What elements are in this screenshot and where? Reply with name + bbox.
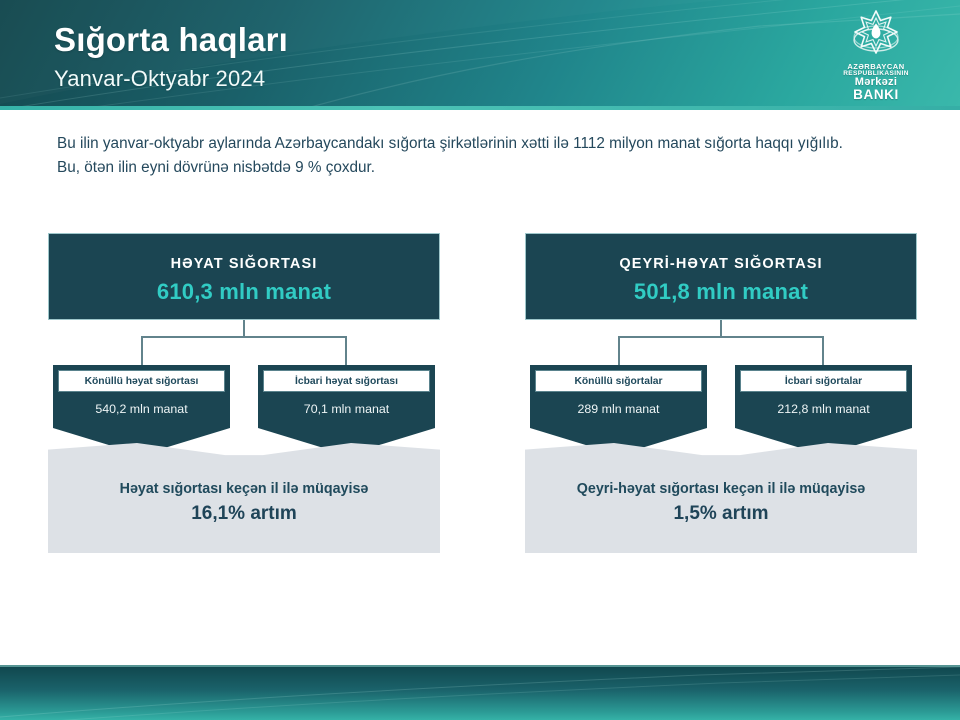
branch-nonlife-children: Könüllü sığortalar 289 mln manat İcbari …	[525, 365, 917, 455]
branch-nonlife-comparison-value: 1,5% artım	[525, 503, 917, 525]
branch-life-child-compulsory-label: İcbari həyat sığortası	[263, 370, 430, 392]
branch-nonlife-child-voluntary-label: Könüllü sığortalar	[535, 370, 702, 392]
connector-bar	[141, 336, 347, 338]
eight-pointed-star-flame-icon	[847, 6, 905, 62]
connector-drop-right	[345, 336, 347, 365]
connector-stem	[243, 320, 245, 337]
branch-life-connector	[48, 320, 440, 365]
intro-paragraph: Bu ilin yanvar-oktyabr aylarında Azərbay…	[57, 132, 857, 179]
page-title: Sığorta haqları	[54, 21, 288, 59]
branch-life-header-box: HƏYAT SIĞORTASI 610,3 mln manat	[48, 233, 440, 320]
branch-life-child-voluntary-label: Könüllü həyat sığortası	[58, 370, 225, 392]
branch-nonlife-connector	[525, 320, 917, 365]
footer-top-edge	[0, 665, 960, 667]
branch-life-value: 610,3 mln manat	[49, 279, 439, 305]
logo-line-4: BANKI	[824, 88, 928, 102]
branch-nonlife-child-compulsory: İcbari sığortalar 212,8 mln manat	[735, 365, 912, 455]
branch-nonlife: QEYRİ-HƏYAT SIĞORTASI 501,8 mln manat Kö…	[525, 233, 917, 553]
branch-life-comparison-value: 16,1% artım	[48, 503, 440, 525]
connector-bar	[618, 336, 824, 338]
branch-nonlife-value: 501,8 mln manat	[526, 279, 916, 305]
branch-life-children: Könüllü həyat sığortası 540,2 mln manat …	[48, 365, 440, 455]
branch-life-child-voluntary-value: 540,2 mln manat	[53, 402, 230, 416]
branch-nonlife-child-compulsory-label: İcbari sığortalar	[740, 370, 907, 392]
page-footer	[0, 665, 960, 720]
page-header: Sığorta haqları Yanvar-Oktyabr 2024 AZƏR…	[0, 0, 960, 110]
branch-nonlife-header-box: QEYRİ-HƏYAT SIĞORTASI 501,8 mln manat	[525, 233, 917, 320]
header-bottom-edge	[0, 106, 960, 110]
branch-nonlife-comparison-box: Qeyri-həyat sığortası keçən il ilə müqay…	[525, 443, 917, 553]
page-subtitle: Yanvar-Oktyabr 2024	[54, 66, 265, 92]
branch-life-child-voluntary: Könüllü həyat sığortası 540,2 mln manat	[53, 365, 230, 455]
branch-life-child-compulsory-value: 70,1 mln manat	[258, 402, 435, 416]
connector-drop-left	[618, 336, 620, 365]
connector-drop-left	[141, 336, 143, 365]
branch-nonlife-child-compulsory-value: 212,8 mln manat	[735, 402, 912, 416]
branch-life: HƏYAT SIĞORTASI 610,3 mln manat Könüllü …	[48, 233, 440, 553]
footer-swoosh-decoration	[0, 665, 960, 720]
branch-nonlife-child-voluntary: Könüllü sığortalar 289 mln manat	[530, 365, 707, 455]
central-bank-logo: AZƏRBAYCAN RESPUBLIKASININ Mərkəzi BANKI	[824, 6, 928, 106]
logo-wordmark: AZƏRBAYCAN RESPUBLIKASININ Mərkəzi BANKI	[824, 63, 928, 102]
branch-nonlife-title: QEYRİ-HƏYAT SIĞORTASI	[526, 256, 916, 272]
connector-drop-right	[822, 336, 824, 365]
branch-life-comparison-box: Həyat sığortası keçən il ilə müqayisə 16…	[48, 443, 440, 553]
connector-stem	[720, 320, 722, 337]
branch-life-title: HƏYAT SIĞORTASI	[49, 256, 439, 272]
branch-nonlife-child-voluntary-value: 289 mln manat	[530, 402, 707, 416]
branch-life-child-compulsory: İcbari həyat sığortası 70,1 mln manat	[258, 365, 435, 455]
